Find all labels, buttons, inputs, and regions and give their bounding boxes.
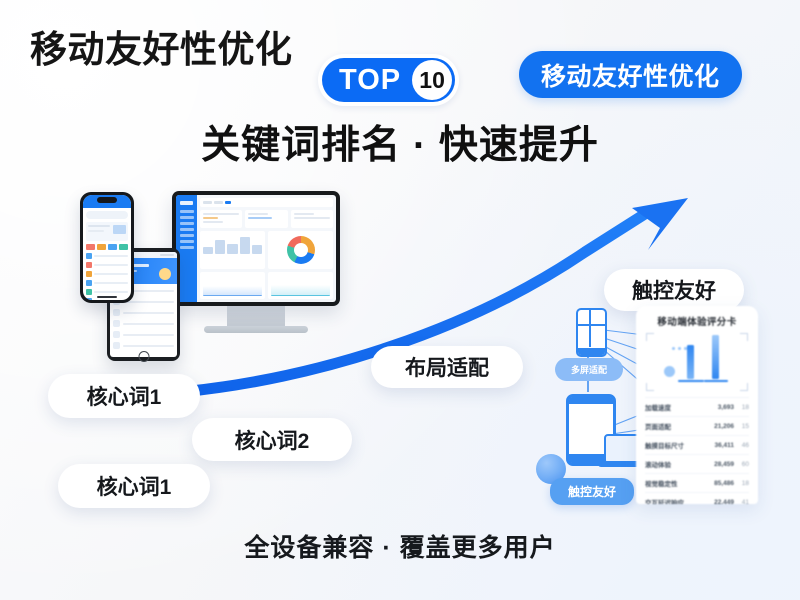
keyword-pill-touch-friendly[interactable]: 触控友好 bbox=[604, 269, 744, 311]
bar bbox=[203, 247, 213, 254]
card-thumb bbox=[113, 225, 126, 234]
row-line bbox=[94, 255, 128, 257]
table-row: 加载速度 3,693 18 bbox=[645, 397, 749, 416]
donut-chart-icon bbox=[287, 236, 315, 264]
page-subtitle: 关键词排名 · 快速提升 bbox=[0, 122, 800, 170]
item-line bbox=[123, 345, 174, 347]
row-icon bbox=[86, 289, 92, 295]
card-line bbox=[88, 230, 104, 232]
phone-home-indicator bbox=[97, 296, 117, 298]
tag-chip bbox=[108, 244, 117, 250]
row-icon bbox=[86, 271, 92, 277]
statusbar-item bbox=[160, 254, 174, 256]
top-rank-badge: TOP 10 bbox=[318, 54, 459, 106]
phone-foot bbox=[578, 348, 605, 355]
item-thumb bbox=[113, 331, 120, 338]
row-value: 21,206 bbox=[712, 423, 734, 430]
row-name: 滚动体验 bbox=[645, 459, 712, 469]
dashboard-nav-item bbox=[180, 234, 194, 237]
dashboard-nav-item bbox=[180, 246, 194, 249]
top-rank-badge-inner: TOP 10 bbox=[322, 58, 455, 102]
list-item bbox=[86, 280, 128, 286]
row-line bbox=[94, 264, 128, 266]
card-line bbox=[203, 221, 223, 223]
monitor-base bbox=[204, 326, 308, 333]
monitor-stand bbox=[227, 306, 285, 328]
dashboard-nav-item bbox=[180, 222, 194, 225]
dashboard-nav-item bbox=[180, 228, 194, 231]
chart-corner bbox=[646, 383, 654, 391]
desktop-monitor-mockup bbox=[172, 191, 340, 306]
dashboard-nav-item bbox=[180, 240, 194, 243]
dashboard-card-bars bbox=[200, 231, 265, 269]
row-name: 触摸目标尺寸 bbox=[645, 440, 712, 450]
phone-notch bbox=[97, 197, 117, 203]
dashboard-main bbox=[197, 195, 336, 302]
dot bbox=[672, 347, 675, 350]
item-thumb bbox=[113, 342, 120, 349]
phone-cap bbox=[569, 397, 613, 404]
phone-tag-row bbox=[83, 244, 131, 253]
phone-result-list bbox=[83, 253, 131, 300]
diagram-pill-touch-friendly: 触控友好 bbox=[550, 478, 634, 505]
table-row: 交互延迟响应 22,449 41 bbox=[645, 492, 749, 504]
item-line bbox=[123, 323, 174, 325]
row-icon bbox=[86, 298, 92, 300]
row-score: 41 bbox=[734, 499, 749, 505]
list-item bbox=[86, 298, 128, 300]
row-score: 46 bbox=[734, 442, 749, 449]
diagram-pill-multiscreen: 多屏适配 bbox=[555, 358, 623, 381]
row-value: 85,486 bbox=[712, 480, 734, 487]
chart-corner bbox=[646, 333, 654, 341]
dashboard-row bbox=[200, 231, 333, 269]
row-value: 22,449 bbox=[712, 499, 734, 505]
hero-badge-icon bbox=[159, 268, 171, 280]
row-name: 页面适配 bbox=[645, 421, 712, 431]
chart-dots bbox=[672, 347, 687, 350]
chart-corner bbox=[740, 333, 748, 341]
chart-bar bbox=[712, 335, 719, 379]
table-row: 滚动体验 28,459 60 bbox=[645, 454, 749, 473]
scorecard-chart bbox=[646, 333, 748, 391]
phone-mockup bbox=[80, 192, 134, 303]
tablet-home-button bbox=[138, 351, 149, 362]
list-item bbox=[86, 253, 128, 259]
row-value: 3,693 bbox=[712, 404, 734, 411]
footer-tagline: 全设备兼容 · 覆盖更多用户 bbox=[0, 528, 800, 564]
row-name: 交互延迟响应 bbox=[645, 497, 712, 504]
card-line bbox=[248, 217, 272, 219]
header-tag-pill: 移动友好性优化 bbox=[519, 51, 742, 98]
item-line bbox=[123, 334, 174, 336]
bar bbox=[240, 237, 250, 254]
item-line bbox=[123, 312, 174, 314]
card-line bbox=[294, 213, 314, 215]
dashboard-card bbox=[291, 210, 333, 228]
bar bbox=[227, 244, 237, 254]
top-rank-badge-word: TOP bbox=[339, 66, 401, 95]
dashboard-row bbox=[200, 272, 333, 299]
top-rank-badge-number: 10 bbox=[412, 60, 452, 100]
poster-canvas: 移动友好性优化 TOP 10 移动友好性优化 关键词排名 · 快速提升 bbox=[0, 0, 800, 600]
mobile-experience-scorecard: 移动端体验评分卡 加载速度 3,693 18 页面适配 21,206 15 bbox=[636, 306, 758, 504]
card-line bbox=[88, 225, 110, 227]
list-item bbox=[86, 262, 128, 268]
dashboard-card bbox=[245, 210, 287, 228]
keyword-pill[interactable]: 核心词1 bbox=[48, 374, 200, 418]
row-score: 18 bbox=[734, 404, 749, 411]
dot bbox=[678, 347, 681, 350]
row-value: 28,459 bbox=[712, 461, 734, 468]
phone-feature-card bbox=[86, 222, 128, 241]
topbar-chip bbox=[214, 201, 223, 204]
keyword-pill[interactable]: 核心词2 bbox=[192, 418, 352, 461]
table-row: 页面适配 21,206 15 bbox=[645, 416, 749, 435]
row-line bbox=[94, 273, 128, 275]
scorecard-rows: 加载速度 3,693 18 页面适配 21,206 15 触摸目标尺寸 36,4… bbox=[636, 397, 758, 504]
item-thumb bbox=[113, 320, 120, 327]
card-line bbox=[248, 213, 268, 215]
dashboard-card bbox=[200, 210, 242, 228]
list-item bbox=[86, 289, 128, 295]
table-row: 触摸目标尺寸 36,411 46 bbox=[645, 435, 749, 454]
keyword-pill[interactable]: 核心词1 bbox=[58, 464, 210, 508]
row-score: 18 bbox=[734, 480, 749, 487]
chart-baseline bbox=[678, 380, 704, 382]
dashboard-card-spark bbox=[200, 272, 265, 299]
list-item bbox=[113, 342, 174, 349]
row-score: 15 bbox=[734, 423, 749, 430]
table-row: 视觉稳定性 85,486 18 bbox=[645, 473, 749, 492]
row-score: 60 bbox=[734, 461, 749, 468]
scorecard-title: 移动端体验评分卡 bbox=[636, 306, 758, 333]
mini-bar-chart bbox=[203, 234, 262, 254]
card-line bbox=[203, 217, 218, 219]
sparkline-chart bbox=[271, 275, 330, 296]
list-item bbox=[113, 320, 174, 327]
dashboard-topbar bbox=[200, 198, 333, 207]
dashboard-logo-icon bbox=[180, 201, 193, 205]
device-mockup-group bbox=[22, 186, 342, 381]
phone-search-field bbox=[86, 211, 128, 219]
diagram-small-phone-icon bbox=[576, 308, 607, 357]
chart-corner bbox=[740, 383, 748, 391]
row-name: 视觉稳定性 bbox=[645, 478, 712, 488]
tag-chip bbox=[119, 244, 128, 250]
split-line bbox=[578, 324, 605, 326]
sparkline-chart bbox=[203, 275, 262, 296]
row-line bbox=[94, 282, 128, 284]
row-line bbox=[94, 291, 128, 293]
tag-chip bbox=[86, 244, 95, 250]
phone-screen bbox=[83, 195, 131, 300]
item-line bbox=[123, 301, 174, 303]
list-item bbox=[86, 271, 128, 277]
dashboard-nav-item bbox=[180, 216, 194, 219]
dashboard-card-donut bbox=[268, 231, 333, 269]
list-item bbox=[113, 331, 174, 338]
row-icon bbox=[86, 253, 92, 259]
bar bbox=[252, 245, 262, 254]
list-item bbox=[113, 309, 174, 316]
card-line bbox=[203, 213, 239, 215]
tag-chip bbox=[97, 244, 106, 250]
card-line bbox=[294, 217, 330, 219]
bar bbox=[215, 240, 225, 254]
dashboard-row bbox=[200, 210, 333, 228]
page-title: 移动友好性优化 bbox=[30, 27, 293, 73]
row-icon bbox=[86, 262, 92, 268]
desktop-screen bbox=[176, 195, 336, 302]
row-icon bbox=[86, 280, 92, 286]
row-value: 36,411 bbox=[712, 442, 734, 449]
row-name: 加载速度 bbox=[645, 402, 712, 412]
topbar-chip-active bbox=[225, 201, 231, 204]
chart-orb bbox=[664, 366, 675, 377]
chart-baseline bbox=[704, 380, 728, 382]
split-line bbox=[589, 310, 591, 347]
item-thumb bbox=[113, 309, 120, 316]
dashboard-card-spark bbox=[268, 272, 333, 299]
dashboard-nav-item bbox=[180, 210, 194, 213]
chart-bar bbox=[687, 345, 694, 379]
keyword-pill-layout-adapt[interactable]: 布局适配 bbox=[371, 346, 523, 388]
topbar-chip bbox=[203, 201, 212, 204]
